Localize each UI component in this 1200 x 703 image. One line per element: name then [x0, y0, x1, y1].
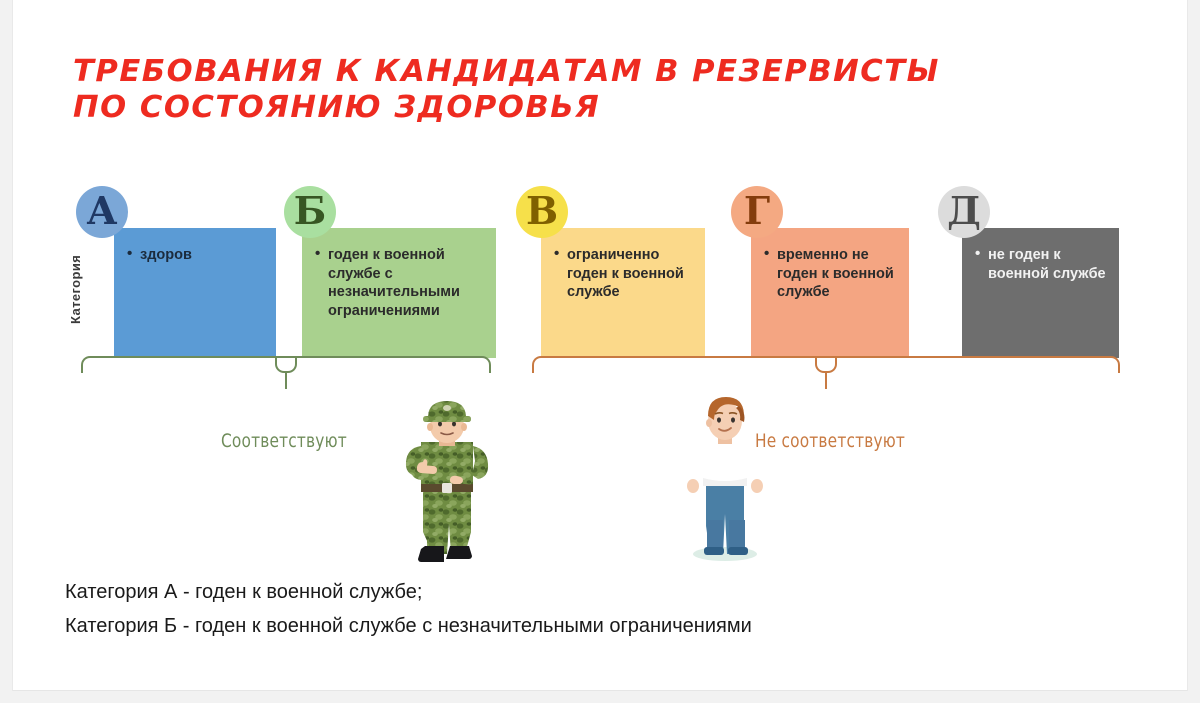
bracket-arm-right — [826, 356, 1120, 373]
bracket-fit — [81, 356, 491, 390]
list-item: не годен к военной службе — [988, 246, 1109, 283]
list-item: годен к военной службе с незначительными… — [328, 246, 486, 320]
list-item: ограниченно годен к военной службе — [567, 246, 695, 302]
category-axis-label: Категория — [68, 234, 86, 344]
category-items-v: ограниченно годен к военной службе — [553, 246, 695, 302]
category-items-g: временно не годен к военной службе — [763, 246, 899, 302]
category-bubble-v: В — [516, 186, 568, 238]
bracket-caption-unfit: Не соответствуют — [755, 430, 905, 452]
bracket-arm-right — [286, 356, 491, 373]
caption-line-2: Категория Б - годен к военной службе с н… — [65, 609, 1125, 643]
category-items-a: здоров — [126, 246, 266, 265]
category-bubble-b: Б — [284, 186, 336, 238]
bracket-caption-fit: Соответствуют — [221, 430, 347, 452]
infographic: ТРЕБОВАНИЯ К КАНДИДАТАМ В РЕЗЕРВИСТЫ ПО … — [13, 18, 1188, 558]
soldier-figure — [387, 396, 507, 572]
bracket-stem — [285, 371, 287, 389]
category-letter-d: Д — [947, 192, 981, 230]
category-box-d: не годен к военной службе — [962, 228, 1119, 358]
category-box-v: ограниченно годен к военной службе — [541, 228, 705, 358]
category-box-a: здоров — [114, 228, 276, 358]
title-line-1: ТРЕБОВАНИЯ К КАНДИДАТАМ В РЕЗЕРВИСТЫ — [73, 54, 991, 90]
category-letter-g: Г — [744, 192, 770, 230]
bracket-unfit — [532, 356, 1120, 390]
category-bubble-g: Г — [731, 186, 783, 238]
category-letter-a: А — [87, 192, 118, 230]
category-bubble-d: Д — [938, 186, 990, 238]
caption-line-1: Категория А - годен к военной службе; — [65, 575, 1125, 609]
bracket-arm-left — [81, 356, 286, 373]
infographic-title: ТРЕБОВАНИЯ К КАНДИДАТАМ В РЕЗЕРВИСТЫ ПО … — [73, 54, 991, 126]
screenshot-root: ·· · ТРЕБОВАНИЯ К КАНДИДАТАМ В РЕЗЕРВИСТ… — [0, 0, 1200, 703]
category-bubble-a: А — [76, 186, 128, 238]
article-caption: Категория А - годен к военной службе; Ка… — [65, 575, 1125, 643]
category-letter-b: Б — [294, 192, 326, 230]
bracket-arm-left — [532, 356, 826, 373]
category-letter-v: В — [526, 192, 558, 230]
list-item: здоров — [140, 246, 266, 265]
list-item: временно не годен к военной службе — [777, 246, 899, 302]
category-box-g: временно не годен к военной службе — [751, 228, 909, 358]
category-items-b: годен к военной службе с незначительными… — [314, 246, 486, 320]
title-line-2: ПО СОСТОЯНИЮ ЗДОРОВЬЯ — [73, 90, 991, 126]
article-card: ·· · ТРЕБОВАНИЯ К КАНДИДАТАМ В РЕЗЕРВИСТ… — [12, 0, 1188, 691]
category-items-d: не годен к военной службе — [974, 246, 1109, 283]
civilian-figure — [673, 392, 777, 564]
bracket-stem — [825, 371, 827, 389]
category-box-b: годен к военной службе с незначительными… — [302, 228, 496, 358]
